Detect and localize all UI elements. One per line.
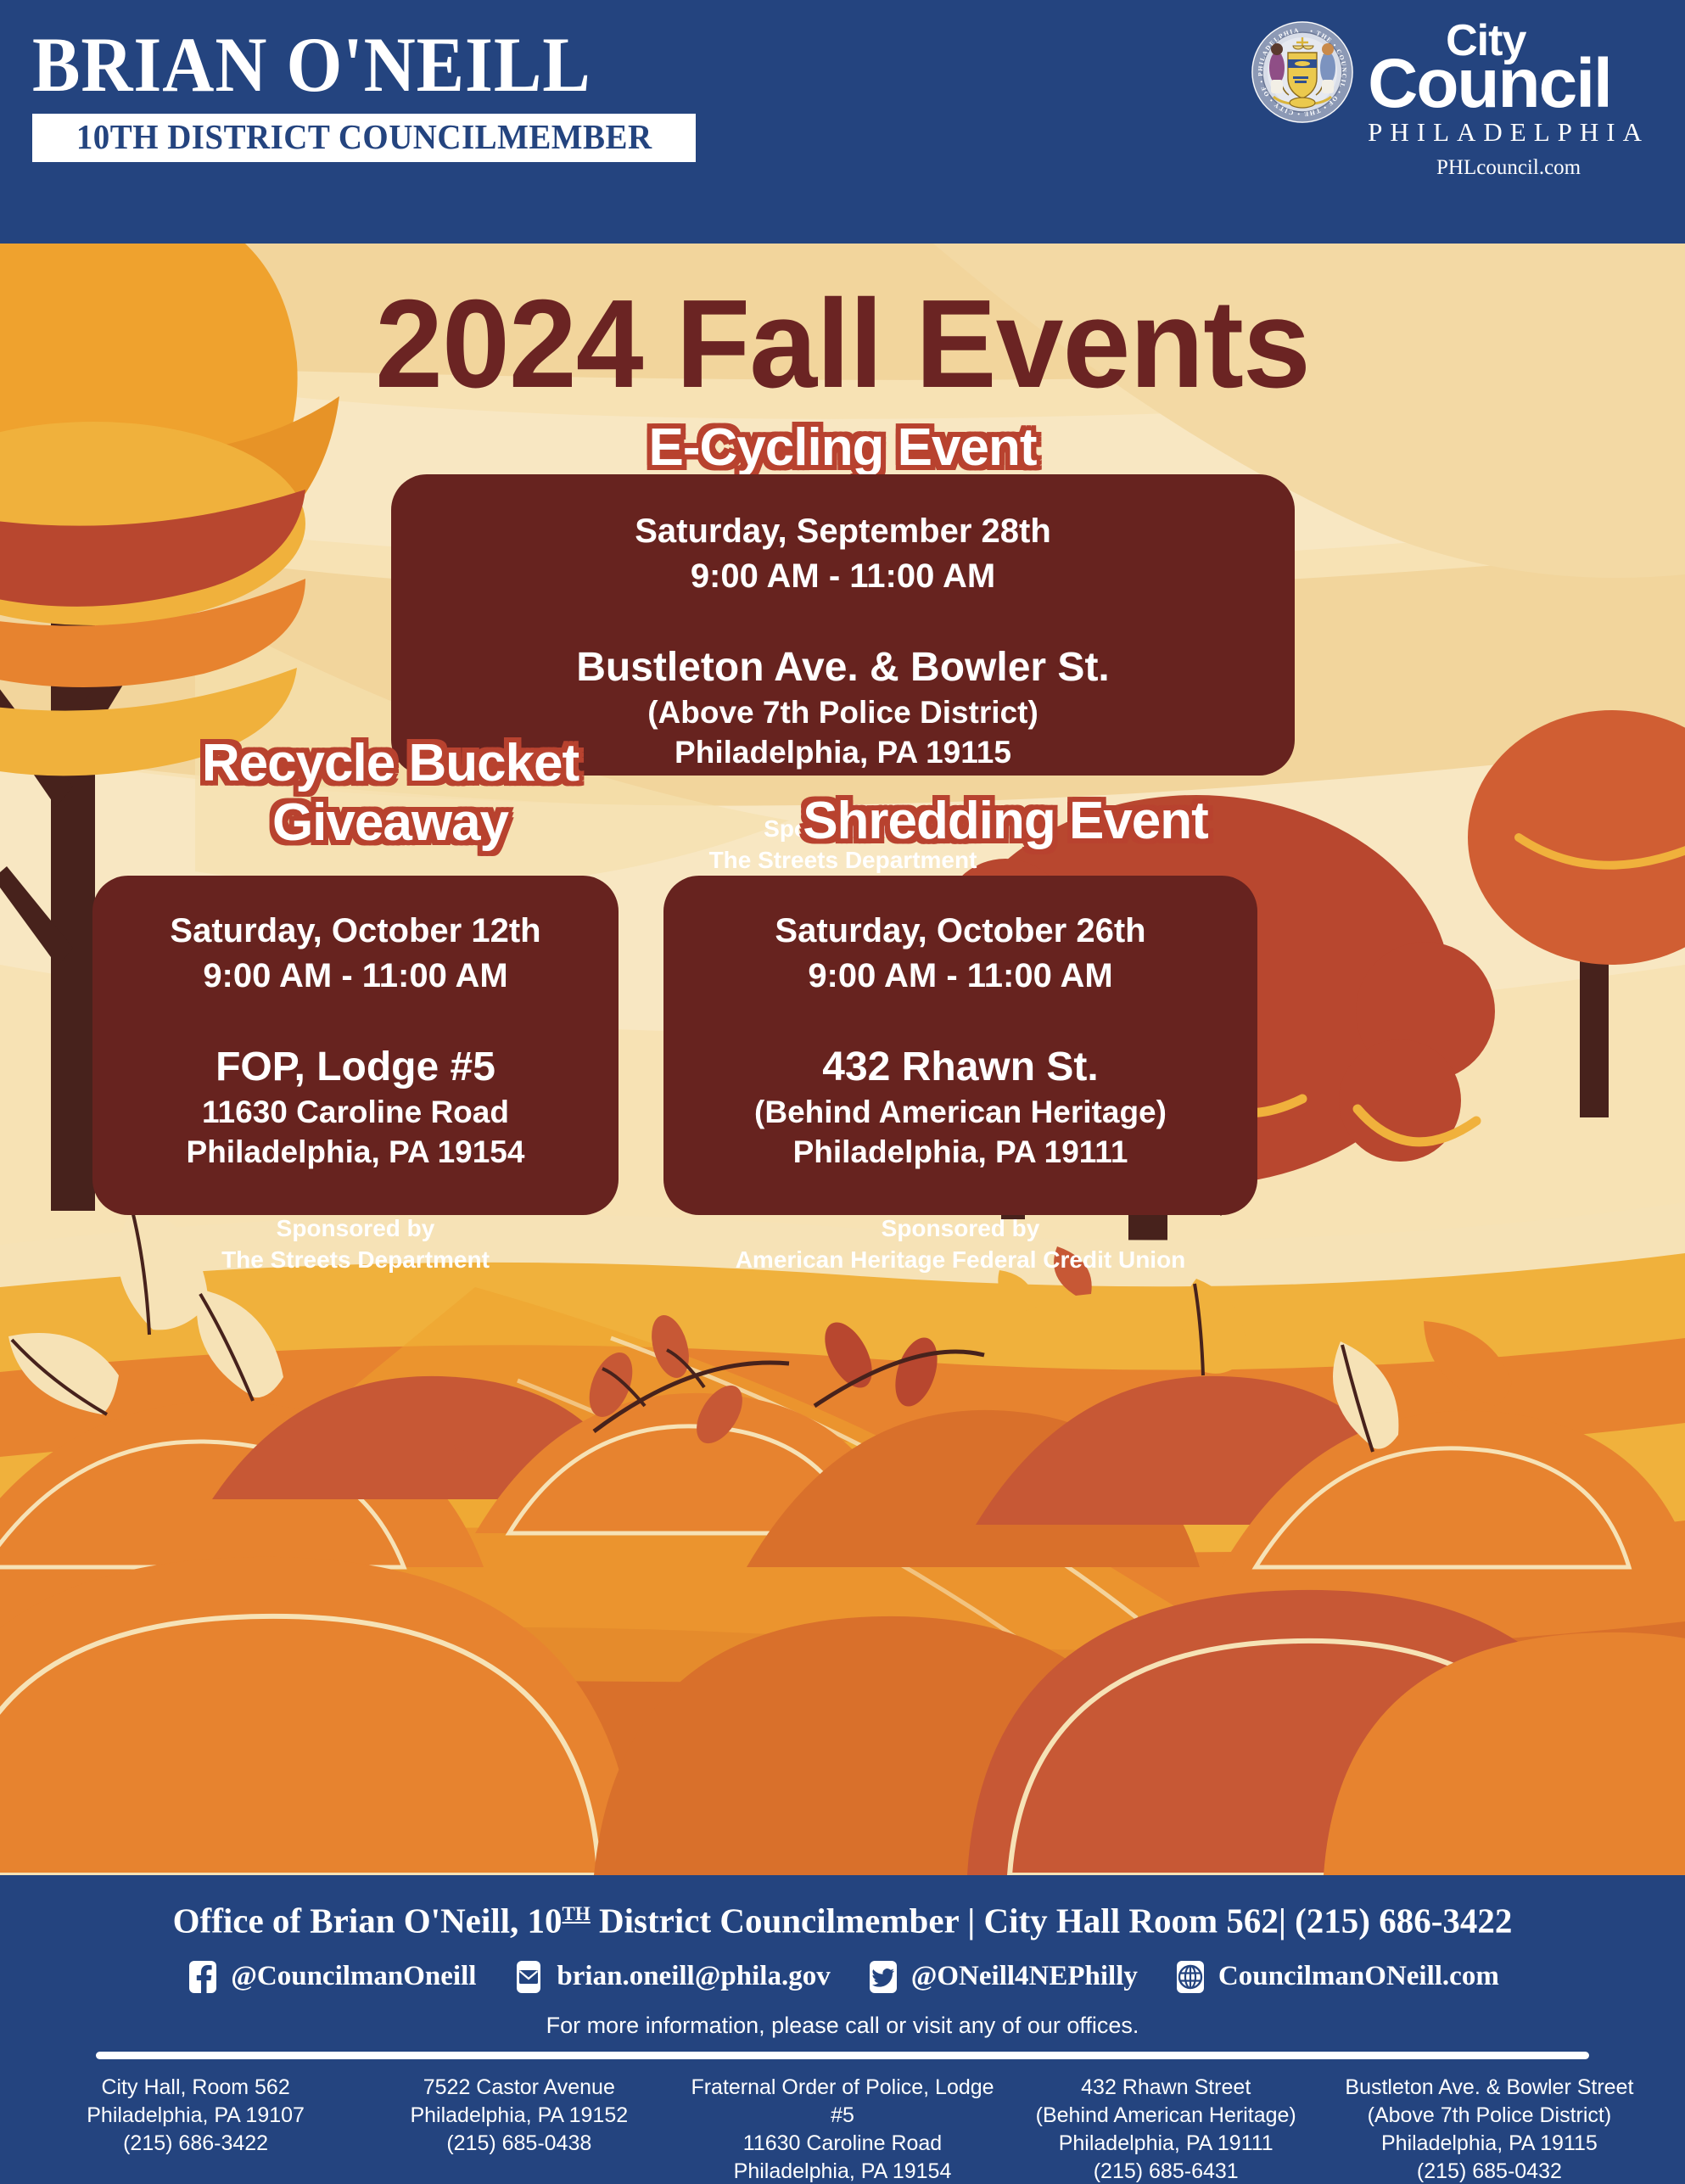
social-label: @CouncilmanOneill [231, 1961, 476, 1992]
flyer-content: 2024 Fall Events E-Cycling Event Saturda… [0, 244, 1685, 1875]
sponsored-by-label: Sponsored by [92, 1212, 619, 1244]
office-line: Philadelphia, PA 19115 [1328, 2130, 1651, 2158]
office-locations-list: City Hall, Room 562 Philadelphia, PA 191… [0, 2074, 1685, 2184]
office-line: Bustleton Ave. & Bowler Street [1328, 2074, 1651, 2102]
office-line: City Hall, Room 562 [34, 2074, 357, 2102]
event-city-state-zip: Philadelphia, PA 19111 [663, 1132, 1257, 1172]
social-link-twitter[interactable]: @ONeill4NEPhilly [866, 1960, 1138, 1994]
event-date: Saturday, October 12th [92, 909, 619, 954]
event-heading-line1: Recycle Bucket [59, 734, 721, 793]
facebook-icon [186, 1960, 220, 1994]
office-line: Fraternal Order of Police, Lodge #5 [680, 2074, 1004, 2130]
sponsored-by-label: Sponsored by [663, 1212, 1257, 1244]
office-line: 432 Rhawn Street [1005, 2074, 1328, 2102]
twitter-icon [866, 1960, 900, 1994]
more-info-text: For more information, please call or vis… [0, 2013, 1685, 2039]
office-line: (Behind American Heritage) [1005, 2102, 1328, 2130]
event-card-shredding: Saturday, October 26th 9:00 AM - 11:00 A… [663, 876, 1257, 1215]
event-time: 9:00 AM - 11:00 AM [92, 954, 619, 999]
office-line: Philadelphia, PA 19111 [1005, 2130, 1328, 2158]
event-date: Saturday, September 28th [391, 509, 1295, 554]
event-city-state-zip: Philadelphia, PA 19154 [92, 1132, 619, 1172]
spacer [663, 1172, 1257, 1212]
district-banner-label: 10TH DISTRICT COUNCILMEMBER [76, 120, 652, 154]
social-links-row: @CouncilmanOneill brian.oneill@phila.gov… [0, 1960, 1685, 1994]
social-label: CouncilmanONeill.com [1218, 1961, 1499, 1992]
event-address-note: 11630 Caroline Road [92, 1092, 619, 1132]
event-sponsor: The Streets Department [92, 1244, 619, 1275]
office-line-ordinal: TH [563, 1903, 591, 1924]
logo-philadelphia-label: PHILADELPHIA [1368, 117, 1649, 148]
social-label: brian.oneill@phila.gov [557, 1961, 830, 1992]
footer-banner: Office of Brian O'Neill, 10TH District C… [0, 1875, 1685, 2184]
globe-icon [1173, 1960, 1207, 1994]
office-line: 7522 Castor Avenue [357, 2074, 680, 2102]
social-link-website[interactable]: CouncilmanONeill.com [1173, 1960, 1499, 1994]
footer-divider [96, 2052, 1589, 2059]
councilmember-name: BRIAN O'NEILL [32, 25, 813, 104]
office-line: (215) 686-3422 [34, 2130, 357, 2158]
office-location: City Hall, Room 562 Philadelphia, PA 191… [34, 2074, 357, 2184]
office-location: Bustleton Ave. & Bowler Street (Above 7t… [1328, 2074, 1651, 2184]
fall-events-flyer: BRIAN O'NEILL 10TH DISTRICT COUNCILMEMBE… [0, 0, 1685, 2184]
event-sponsor: American Heritage Federal Credit Union [663, 1244, 1257, 1275]
event-card-recycle-bucket: Saturday, October 12th 9:00 AM - 11:00 A… [92, 876, 619, 1215]
event-time: 9:00 AM - 11:00 AM [391, 554, 1295, 599]
office-line: (215) 685-0438 [357, 2130, 680, 2158]
event-venue: FOP, Lodge #5 [92, 1043, 619, 1092]
event-date: Saturday, October 26th [663, 909, 1257, 954]
office-location: Fraternal Order of Police, Lodge #5 1163… [680, 2074, 1004, 2184]
event-address-note: (Behind American Heritage) [663, 1092, 1257, 1132]
social-link-facebook[interactable]: @CouncilmanOneill [186, 1960, 476, 1994]
spacer [92, 1172, 619, 1212]
office-line-part-b: District Councilmember | City Hall Room … [591, 1901, 1513, 1940]
event-heading-recycle-bucket: Recycle Bucket Giveaway [59, 734, 721, 853]
event-venue: Bustleton Ave. & Bowler St. [391, 643, 1295, 692]
social-link-email[interactable]: brian.oneill@phila.gov [512, 1960, 830, 1994]
logo-website-url: PHLcouncil.com [1368, 156, 1649, 180]
office-location: 432 Rhawn Street (Behind American Herita… [1005, 2074, 1328, 2184]
office-line: (215) 685-0432 [1328, 2158, 1651, 2184]
event-time: 9:00 AM - 11:00 AM [663, 954, 1257, 999]
office-line-part-a: Office of Brian O'Neill, 10 [173, 1901, 563, 1940]
city-council-wordmark: City Council PHILADELPHIA PHLcouncil.com [1368, 20, 1649, 180]
district-banner: 10TH DISTRICT COUNCILMEMBER [32, 114, 696, 162]
social-label: @ONeill4NEPhilly [911, 1961, 1138, 1992]
email-icon [512, 1960, 546, 1994]
office-line: (Above 7th Police District) [1328, 2102, 1651, 2130]
office-line: Philadelphia, PA 19154 [680, 2158, 1004, 2184]
event-heading-ecycling: E-Cycling Event [0, 422, 1685, 474]
philadelphia-city-council-seal-icon: • THE • COUNCIL • OF • THE • CITY • OF •… [1251, 20, 1354, 124]
office-line: Philadelphia, PA 19152 [357, 2102, 680, 2130]
office-line: (215) 685-6431 [1005, 2158, 1328, 2184]
page-title: 2024 Fall Events [25, 282, 1660, 407]
event-card-ecycling: Saturday, September 28th 9:00 AM - 11:00… [391, 474, 1295, 776]
spacer [391, 599, 1295, 643]
event-address-note: (Above 7th Police District) [391, 692, 1295, 732]
event-heading-line2: Giveaway [59, 793, 721, 853]
header-banner: BRIAN O'NEILL 10TH DISTRICT COUNCILMEMBE… [0, 0, 1685, 244]
event-heading-shredding: Shredding Event [645, 795, 1366, 848]
office-contact-line: Office of Brian O'Neill, 10TH District C… [0, 1894, 1685, 1941]
office-line: 11630 Caroline Road [680, 2130, 1004, 2158]
office-location: 7522 Castor Avenue Philadelphia, PA 1915… [357, 2074, 680, 2184]
city-council-logo: • THE • COUNCIL • OF • THE • CITY • OF •… [1251, 20, 1649, 180]
councilmember-identity: BRIAN O'NEILL 10TH DISTRICT COUNCILMEMBE… [32, 25, 881, 162]
office-line: Philadelphia, PA 19107 [34, 2102, 357, 2130]
spacer [92, 999, 619, 1043]
logo-council-label: Council [1368, 54, 1649, 114]
event-venue: 432 Rhawn St. [663, 1043, 1257, 1092]
spacer [663, 999, 1257, 1043]
